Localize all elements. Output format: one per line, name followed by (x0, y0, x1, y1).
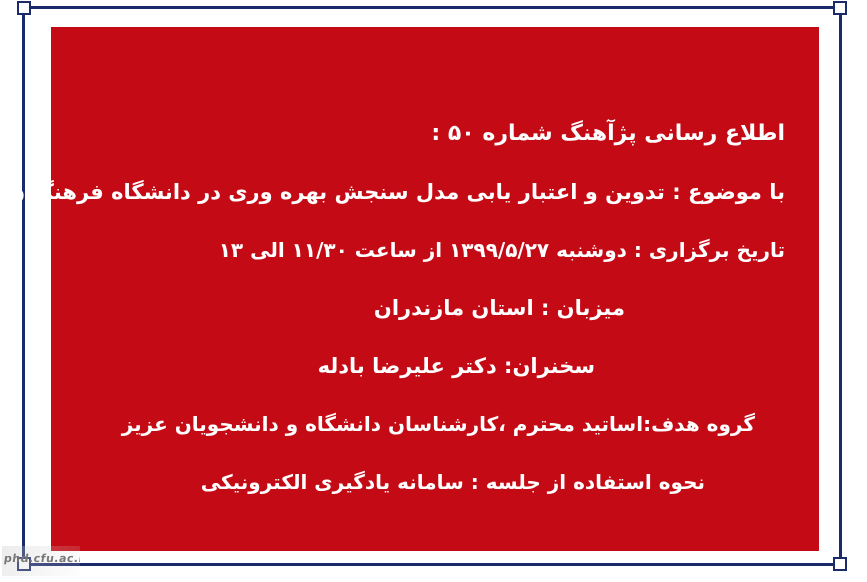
frame-corner-bottom-right (833, 557, 847, 571)
target-group-line: گروه هدف:اساتید محترم ،کارشناسان دانشگاه… (85, 395, 785, 453)
frame-corner-top-left (17, 1, 31, 15)
announcement-number-line: اطلاع رسانی پژآهنگ شماره ۵۰ : (85, 105, 785, 163)
subject-line: با موضوع : تدوین و اعتبار یابی مدل سنجش … (85, 163, 785, 221)
poster-red-panel: اطلاع رسانی پژآهنگ شماره ۵۰ : با موضوع :… (49, 25, 821, 553)
poster-root: اطلاع رسانی پژآهنگ شماره ۵۰ : با موضوع :… (0, 0, 867, 582)
frame-corner-top-right (833, 1, 847, 15)
host-line: میزبان : استان مازندران (85, 279, 785, 337)
site-watermark: phd.cfu.ac.ir (2, 546, 80, 576)
poster-outer-frame: اطلاع رسانی پژآهنگ شماره ۵۰ : با موضوع :… (22, 6, 842, 566)
date-time-line: تاریخ برگزاری : دوشنبه ۱۳۹۹/۵/۲۷ از ساعت… (85, 221, 785, 279)
watermark-text: phd.cfu.ac.ir (3, 552, 80, 565)
how-to-join-line: نحوه استفاده از جلسه : سامانه یادگیری ال… (85, 453, 785, 511)
speaker-line: سخنران: دکتر علیرضا بادله (85, 337, 785, 395)
poster-content: اطلاع رسانی پژآهنگ شماره ۵۰ : با موضوع :… (51, 27, 819, 551)
